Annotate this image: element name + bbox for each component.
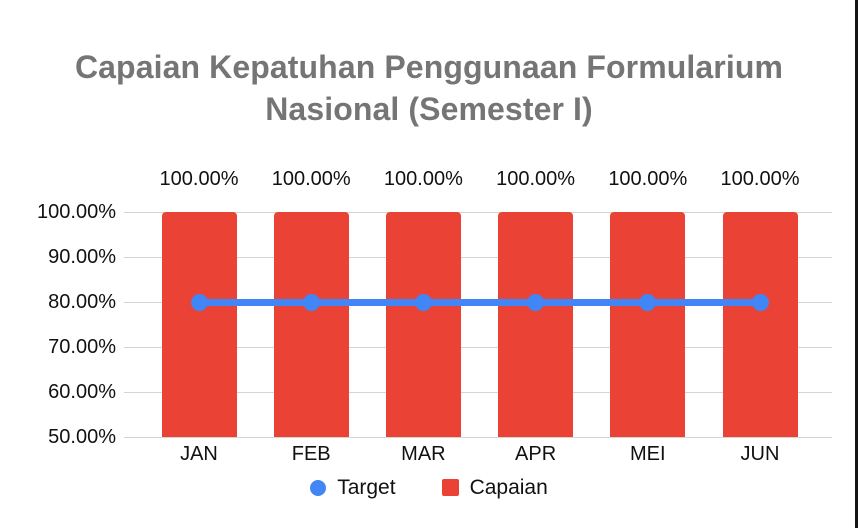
y-axis: 100.00%90.00%80.00%70.00%60.00%50.00%: [0, 212, 116, 437]
bar-data-label: 100.00%: [476, 168, 596, 190]
target-line-segment: [311, 299, 423, 306]
y-axis-tick-label: 90.00%: [6, 247, 116, 267]
y-axis-tick-label: 50.00%: [6, 427, 116, 447]
legend-item[interactable]: Target: [310, 477, 395, 498]
line-series-target: [124, 212, 832, 437]
bar-data-label: 100.00%: [700, 168, 820, 190]
chart-container: Capaian Kepatuhan Penggunaan Formularium…: [0, 0, 858, 528]
x-axis-tick-label: FEB: [251, 443, 371, 465]
target-marker[interactable]: [415, 294, 432, 311]
gridline: [124, 437, 832, 438]
plot-area: [124, 212, 832, 437]
target-line-segment: [648, 299, 760, 306]
target-marker[interactable]: [191, 294, 208, 311]
bar-data-label: 100.00%: [363, 168, 483, 190]
target-marker[interactable]: [752, 294, 769, 311]
target-marker[interactable]: [639, 294, 656, 311]
chart-title-line-1: Capaian Kepatuhan Penggunaan Formularium: [40, 46, 818, 88]
bar-data-label: 100.00%: [588, 168, 708, 190]
y-axis-tick-label: 70.00%: [6, 337, 116, 357]
x-axis-tick-label: JAN: [139, 443, 259, 465]
legend-square-icon: [442, 479, 459, 496]
y-axis-tick-label: 100.00%: [6, 202, 116, 222]
x-axis-tick-label: JUN: [700, 443, 820, 465]
x-axis-tick-label: MAR: [363, 443, 483, 465]
chart-title: Capaian Kepatuhan Penggunaan Formularium…: [40, 46, 818, 130]
bar-data-label: 100.00%: [251, 168, 371, 190]
y-axis-tick-label: 60.00%: [6, 382, 116, 402]
legend-item[interactable]: Capaian: [442, 477, 548, 498]
bar-data-label: 100.00%: [139, 168, 259, 190]
target-line-segment: [423, 299, 535, 306]
target-marker[interactable]: [303, 294, 320, 311]
legend-item-label: Target: [337, 477, 395, 498]
chart-legend: TargetCapaian: [0, 477, 858, 498]
legend-circle-icon: [310, 480, 326, 496]
x-axis-tick-label: APR: [476, 443, 596, 465]
target-line-segment: [536, 299, 648, 306]
target-marker[interactable]: [527, 294, 544, 311]
legend-item-label: Capaian: [470, 477, 548, 498]
chart-title-line-2: Nasional (Semester I): [40, 88, 818, 130]
y-axis-tick-label: 80.00%: [6, 292, 116, 312]
x-axis-tick-label: MEI: [588, 443, 708, 465]
target-line-segment: [199, 299, 311, 306]
